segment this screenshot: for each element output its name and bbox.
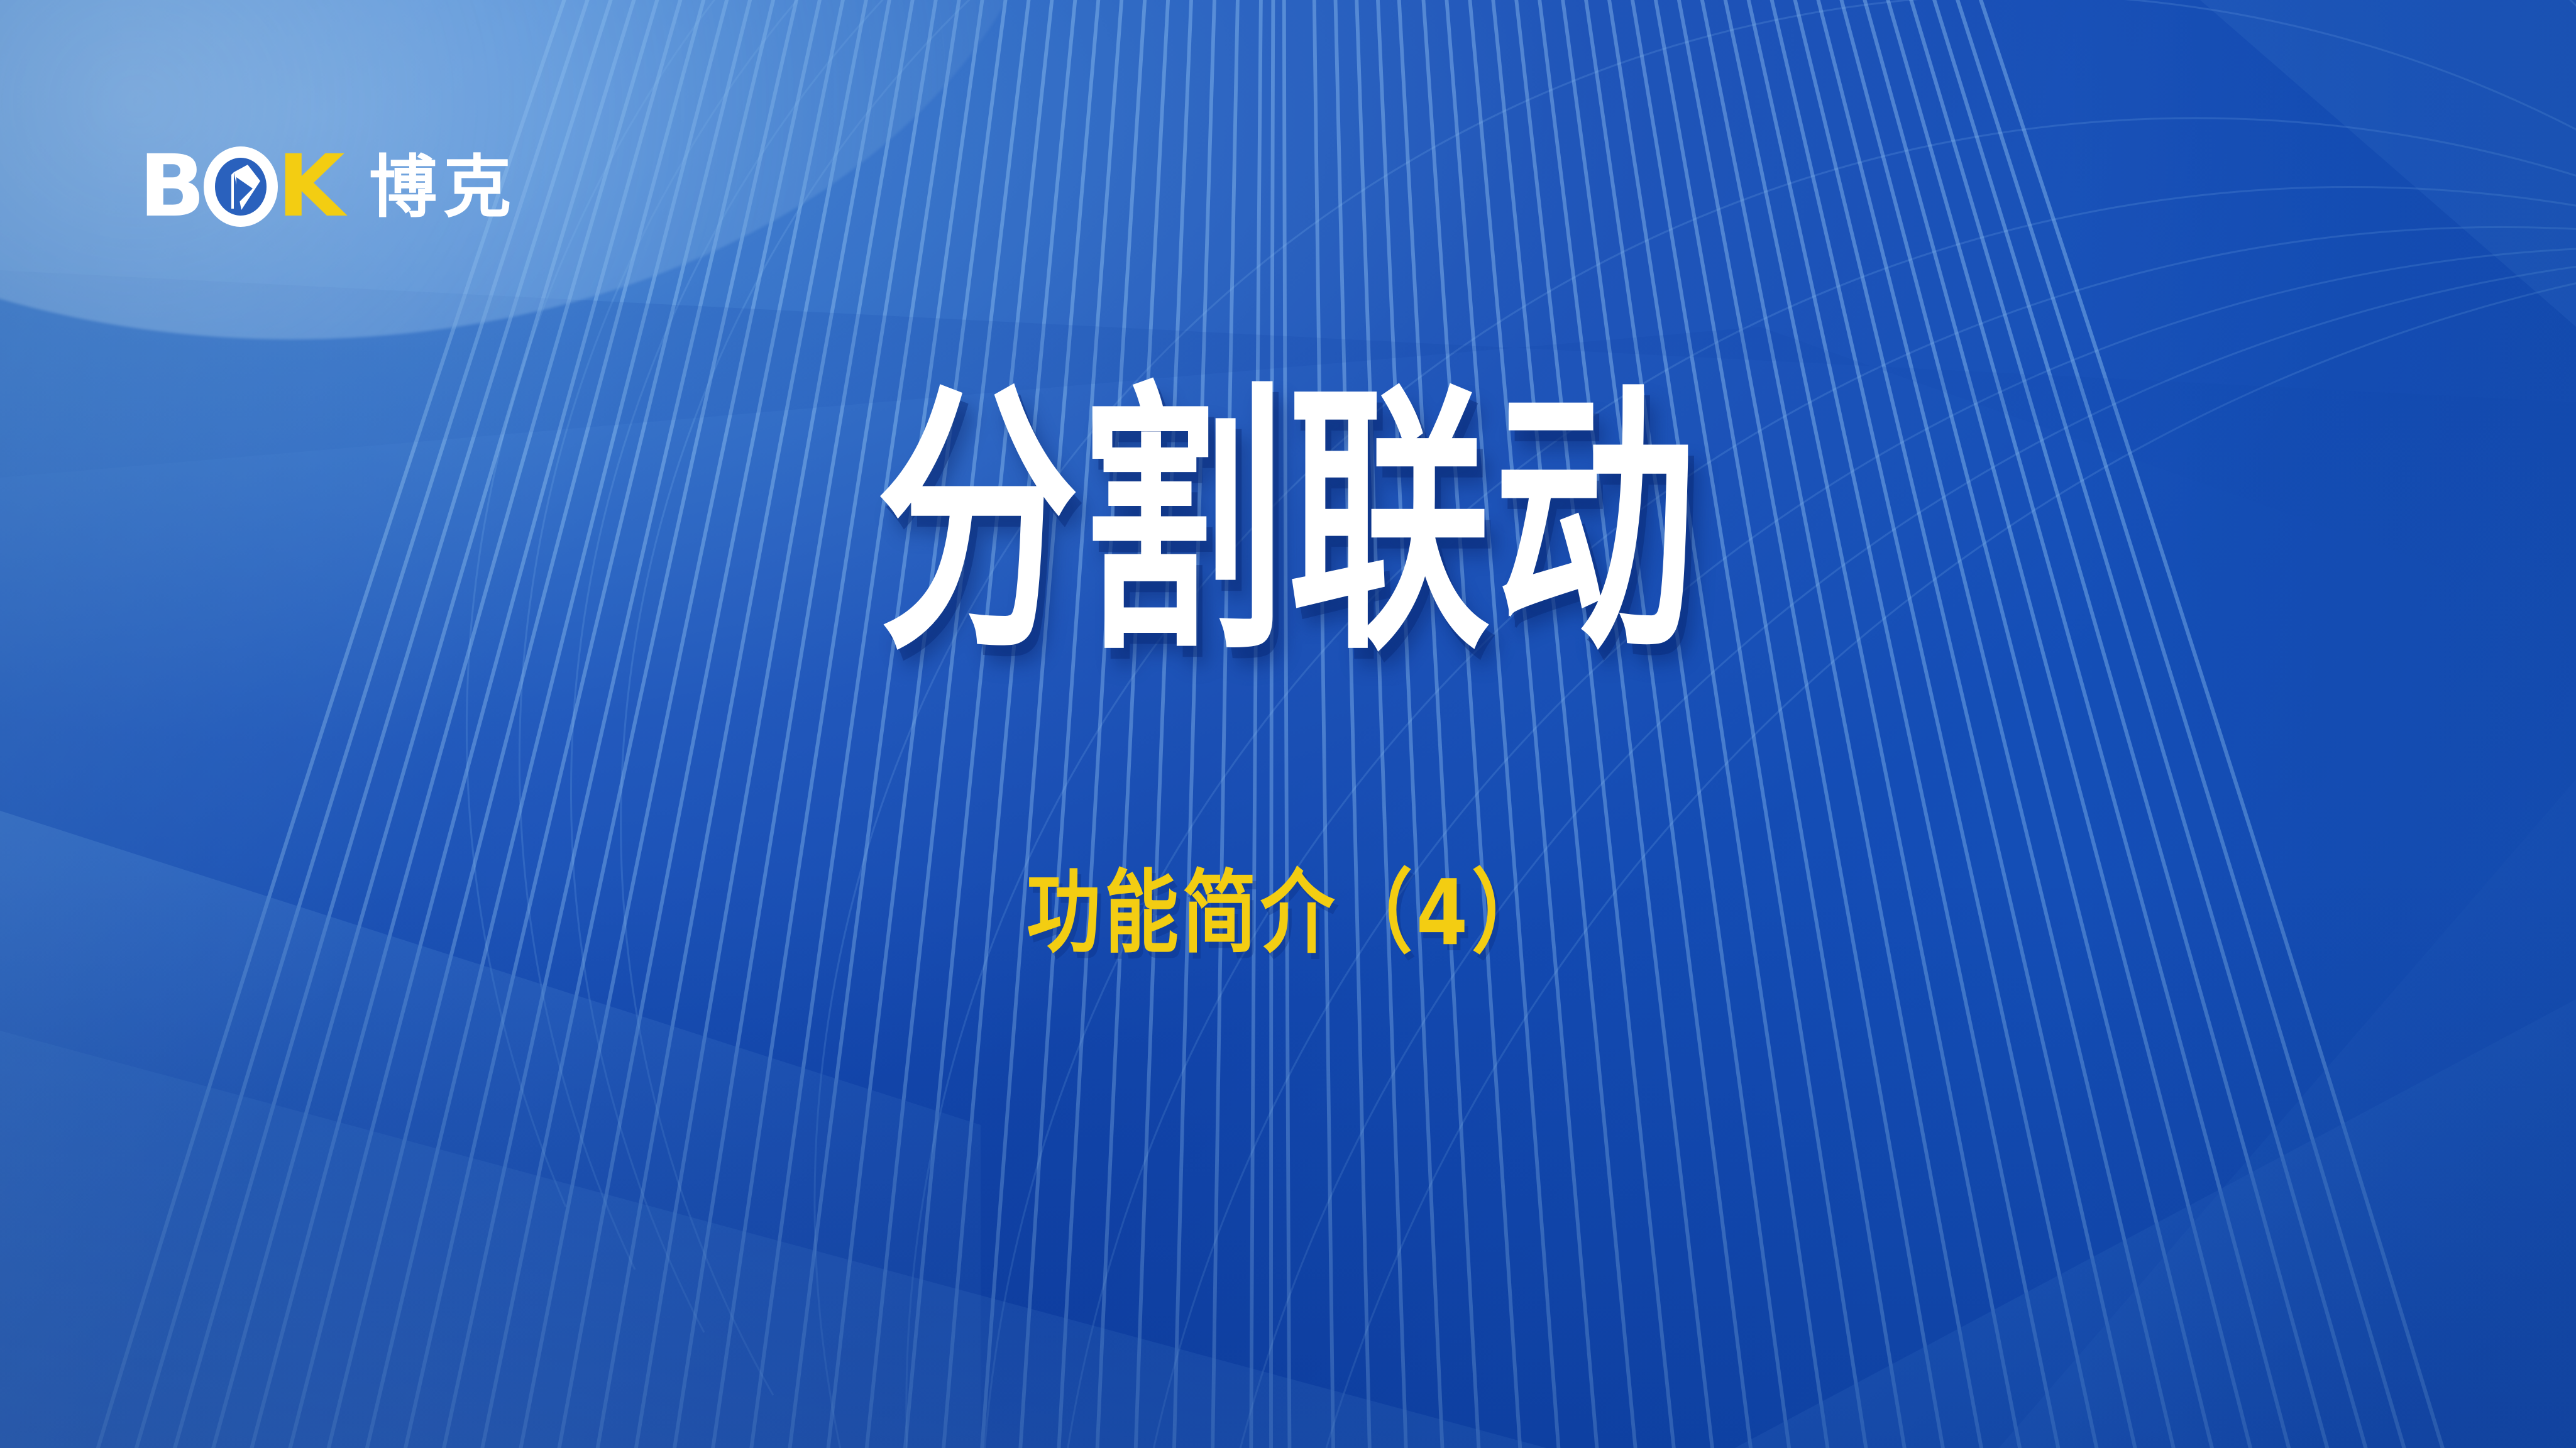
title-block: 分割联动	[0, 383, 2576, 594]
logo-letter-k: K	[277, 144, 343, 229]
title-card-canvas: B K 博克 分割联动 功能简介（4）	[0, 0, 2576, 1448]
brand-logo: B K 博克	[140, 146, 517, 228]
page-subtitle: 功能简介（4）	[1027, 860, 1549, 967]
page-title: 分割联动	[876, 383, 1699, 666]
logo-letter-b: B	[139, 144, 204, 229]
subtitle-block: 功能简介（4）	[0, 860, 2576, 947]
play-arrow-icon	[215, 156, 268, 217]
logo-letter-o	[204, 146, 278, 228]
logo-chinese-name: 博克	[369, 154, 517, 222]
logo-wordmark: B K	[140, 146, 343, 228]
